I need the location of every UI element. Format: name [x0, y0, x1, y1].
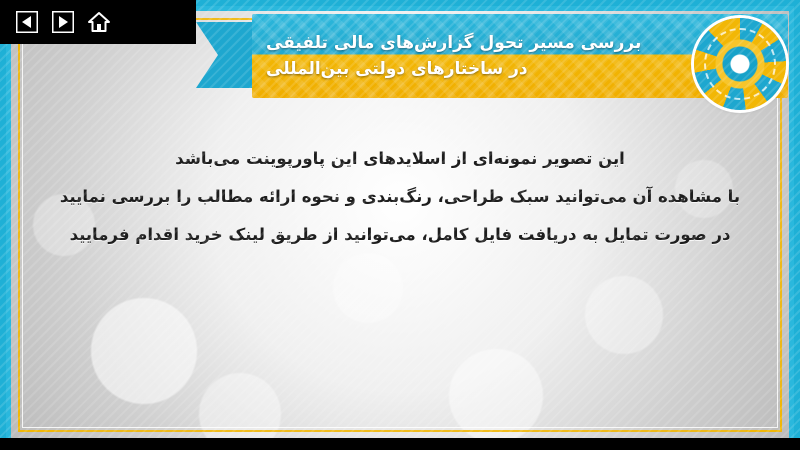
bottom-letterbox [0, 438, 800, 450]
corner-ornament-bottom-left [18, 396, 54, 432]
title-banner: بررسی مسیر تحول گزارش‌های مالی تلفیقی در… [196, 14, 788, 98]
body-line-2: با مشاهده آن می‌توانید سبک طراحی، رنگ‌بن… [40, 178, 760, 216]
body-line-3: در صورت تمایل به دریافت فایل کامل، می‌تو… [40, 216, 760, 254]
slide-canvas: بررسی مسیر تحول گزارش‌های مالی تلفیقی در… [0, 0, 800, 450]
mandala-medallion-icon [694, 18, 786, 110]
slide-title-line-1: بررسی مسیر تحول گزارش‌های مالی تلفیقی [266, 30, 641, 56]
previous-icon [16, 11, 38, 33]
previous-button[interactable] [14, 9, 40, 35]
home-button[interactable] [86, 9, 112, 35]
home-icon [87, 11, 111, 33]
slide-title-line-2: در ساختارهای دولتی بین‌المللی [266, 56, 528, 82]
body-line-1: این تصویر نمونه‌ای از اسلایدهای این پاور… [40, 140, 760, 178]
corner-ornament-bottom-right [746, 396, 782, 432]
slide-body: این تصویر نمونه‌ای از اسلایدهای این پاور… [40, 140, 760, 254]
slide-viewer: بررسی مسیر تحول گزارش‌های مالی تلفیقی در… [0, 0, 800, 450]
next-button[interactable] [50, 9, 76, 35]
player-controls [0, 0, 196, 44]
next-icon [52, 11, 74, 33]
